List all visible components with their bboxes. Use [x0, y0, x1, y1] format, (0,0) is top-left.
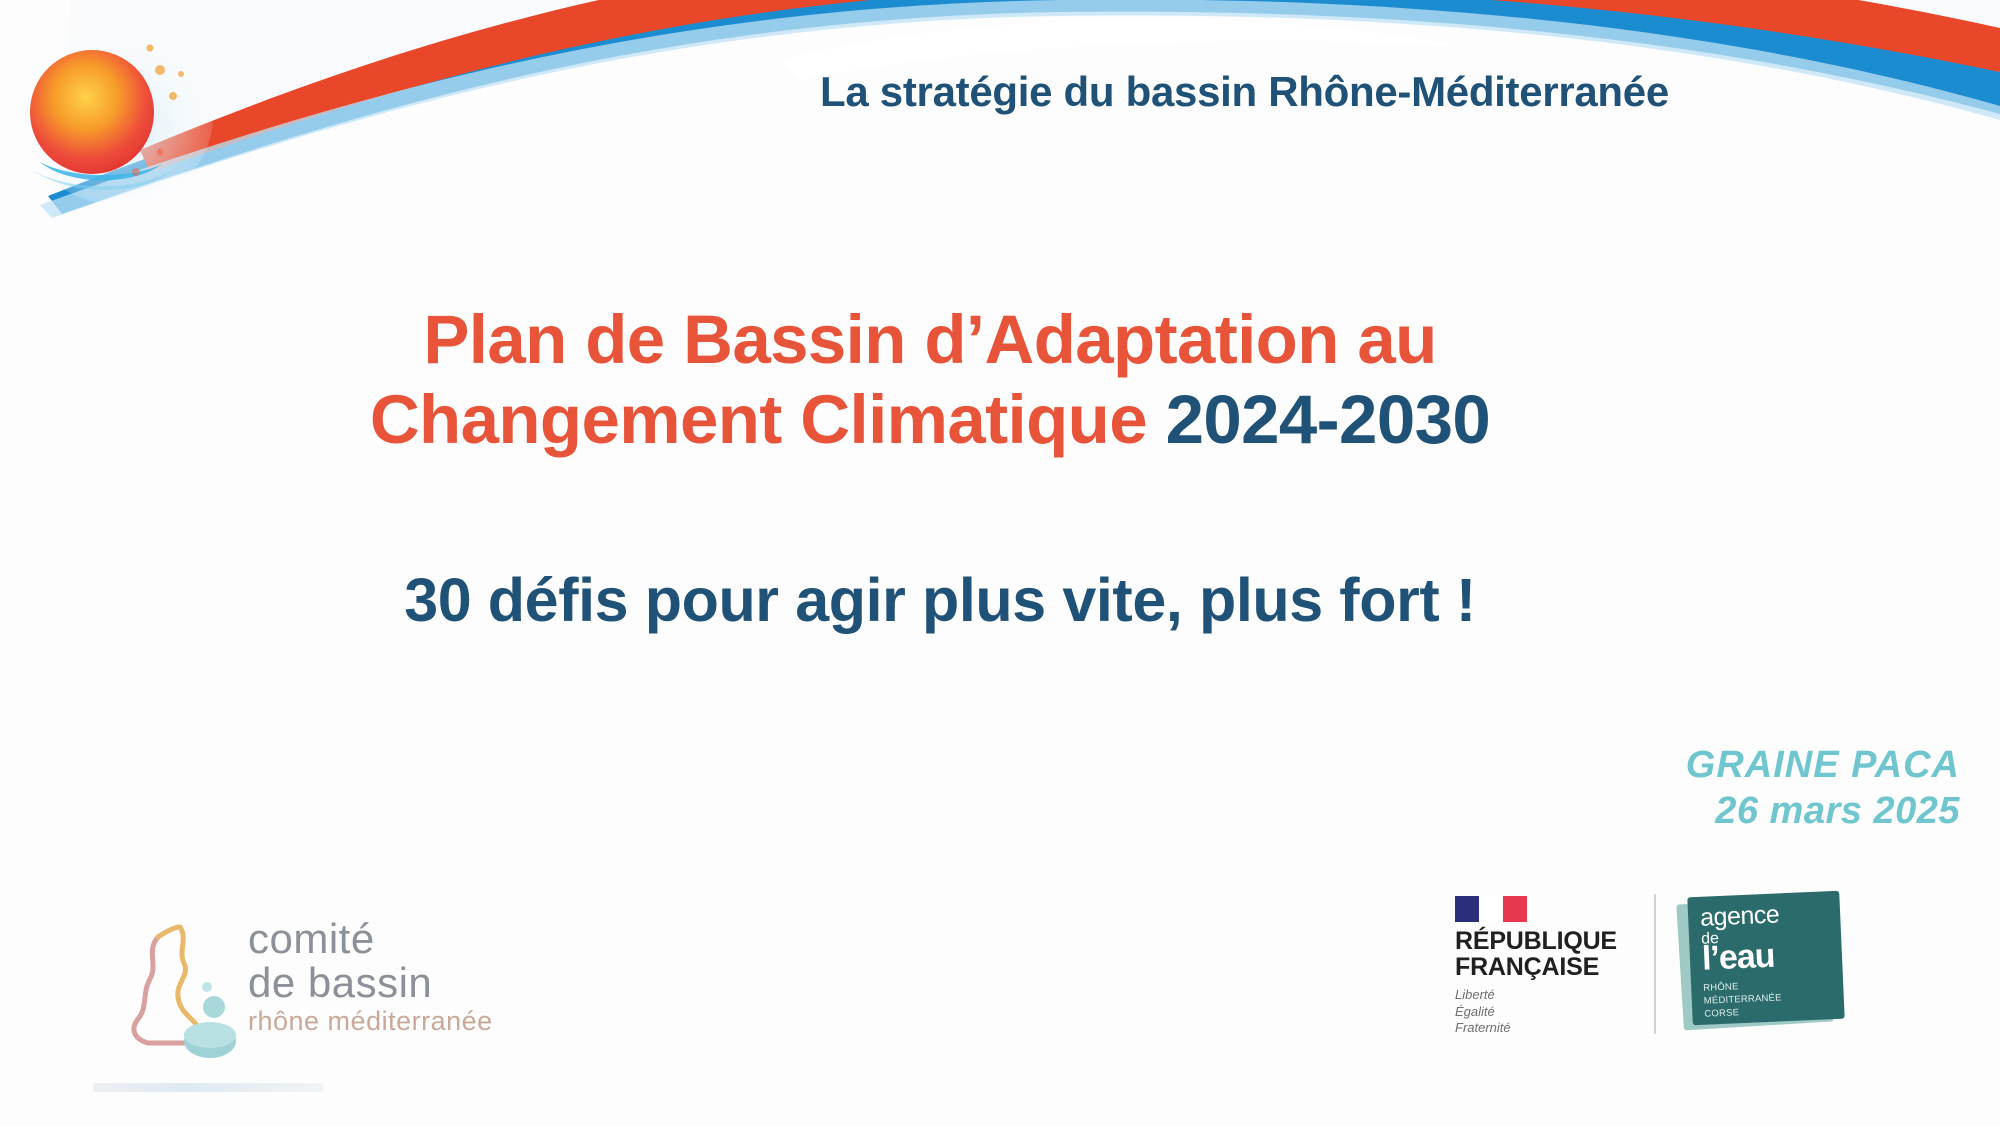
event-name: GRAINE PACA [1686, 742, 1960, 788]
rf-motto-3: Fraternité [1455, 1020, 1640, 1037]
slide-canvas: La stratégie du bassin Rhône-Méditerrané… [0, 0, 2000, 1127]
rf-motto: Liberté Égalité Fraternité [1455, 987, 1640, 1037]
comite-wordmark: comité de bassin rhône méditerranée [248, 917, 588, 1038]
logo-divider [1654, 894, 1656, 1034]
comite-basin-map-icon [118, 921, 238, 1061]
rf-line-1: RÉPUBLIQUE [1455, 929, 1640, 955]
rf-line-2: FRANÇAISE [1455, 955, 1640, 981]
comite-de-bassin-logo: comité de bassin rhône méditerranée [118, 915, 588, 1065]
header-title: La stratégie du bassin Rhône-Méditerrané… [820, 68, 1950, 116]
globe-icon [10, 12, 215, 212]
header-banner: La stratégie du bassin Rhône-Méditerrané… [0, 0, 2000, 250]
french-flag-icon [1455, 896, 1527, 922]
title-line-2-text: Changement Climatique [370, 381, 1147, 458]
rf-motto-2: Égalité [1455, 1004, 1640, 1021]
event-date: 26 mars 2025 [1686, 788, 1960, 834]
title-line-2: Changement Climatique 2024-2030 [0, 380, 1860, 460]
agence-sub: RHÔNE MÉDITERRANÉE CORSE [1703, 977, 1833, 1021]
event-block: GRAINE PACA 26 mars 2025 [1686, 742, 1960, 835]
title-year-range: 2024-2030 [1166, 381, 1491, 458]
partner-logo-strip: RÉPUBLIQUE FRANÇAISE Liberté Égalité Fra… [1455, 888, 1895, 1068]
comite-underline [93, 1083, 323, 1092]
rf-motto-1: Liberté [1455, 987, 1640, 1004]
subtitle: 30 défis pour agir plus vite, plus fort … [0, 565, 1880, 635]
agence-logo-card: agence de l’eau RHÔNE MÉDITERRANÉE CORSE [1687, 891, 1844, 1026]
main-title-block: Plan de Bassin d’Adaptation au Changemen… [0, 300, 1860, 460]
header-swoosh-graphic [0, 0, 2000, 250]
agence-de-leau-logo: agence de l’eau RHÔNE MÉDITERRANÉE CORSE [1678, 888, 1853, 1038]
comite-line-3: rhône méditerranée [248, 1005, 588, 1037]
title-line-1: Plan de Bassin d’Adaptation au [0, 300, 1860, 380]
agence-line-3: l’eau [1701, 938, 1830, 975]
comite-line-2: de bassin [248, 961, 588, 1005]
comite-line-1: comité [248, 917, 588, 961]
subtitle-block: 30 défis pour agir plus vite, plus fort … [0, 565, 1880, 635]
republique-francaise-logo: RÉPUBLIQUE FRANÇAISE Liberté Égalité Fra… [1455, 888, 1640, 1037]
